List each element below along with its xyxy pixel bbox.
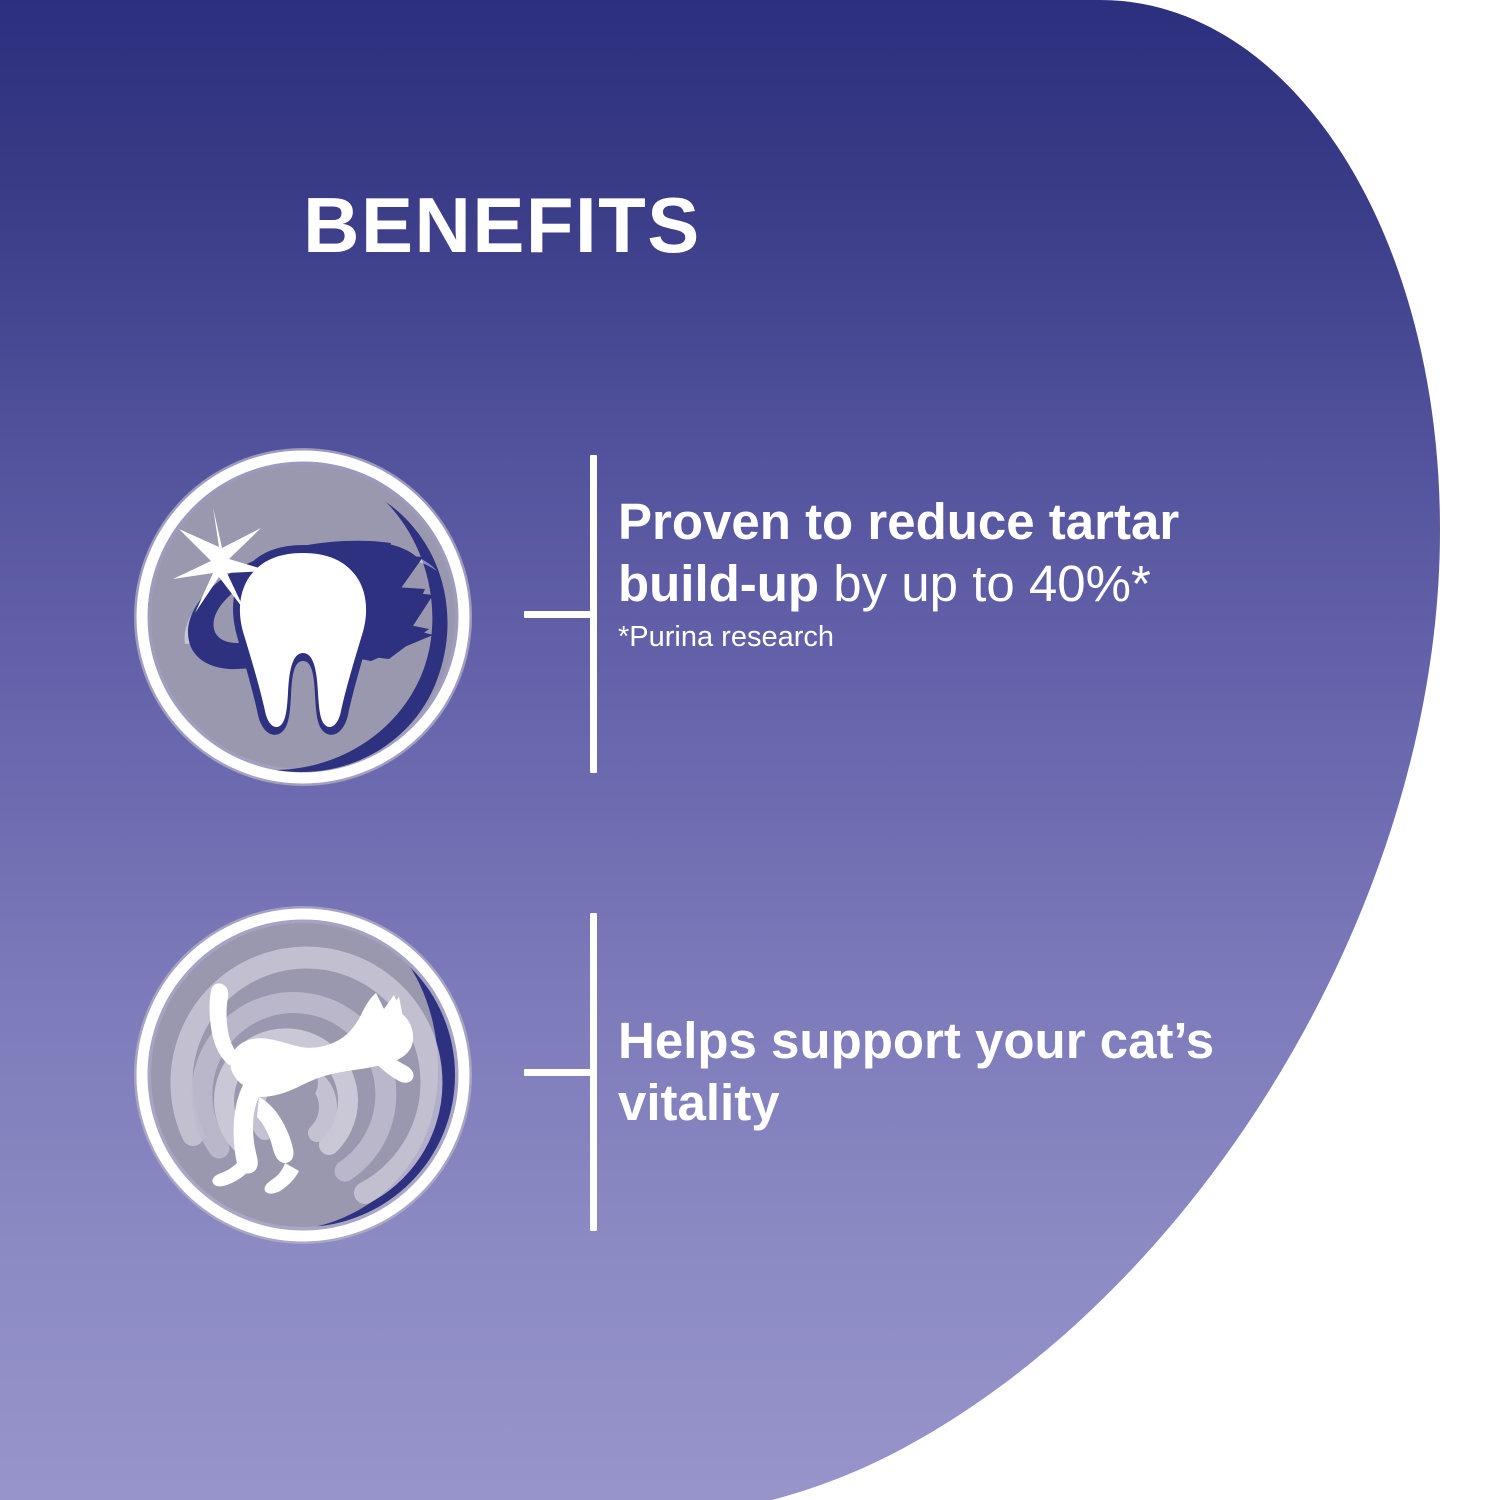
benefit-divider-2 <box>560 913 620 1231</box>
benefit-text-2: Helps support your cat’s vitality <box>618 1010 1228 1134</box>
benefit-footnote-1: *Purina research <box>618 619 1228 655</box>
benefit-text-1: Proven to reduce tartar build-up by up t… <box>618 491 1228 655</box>
benefit-divider-1 <box>560 455 620 773</box>
divider-tick <box>524 1069 592 1076</box>
divider-tick <box>524 611 592 618</box>
benefit-headline-2: Helps support your cat’s vitality <box>618 1010 1228 1134</box>
leaping-cat-vitality-icon <box>133 905 473 1245</box>
tooth-sparkle-icon <box>133 447 473 787</box>
page-title: BENEFITS <box>0 186 1252 264</box>
benefit-headline-bold-2: Helps support your cat’s vitality <box>618 1012 1214 1131</box>
benefits-panel: BENEFITS <box>0 0 1500 1500</box>
benefit-headline-1: Proven to reduce tartar build-up by up t… <box>618 491 1228 615</box>
benefit-headline-regular-1: by up to 40%* <box>819 555 1151 612</box>
